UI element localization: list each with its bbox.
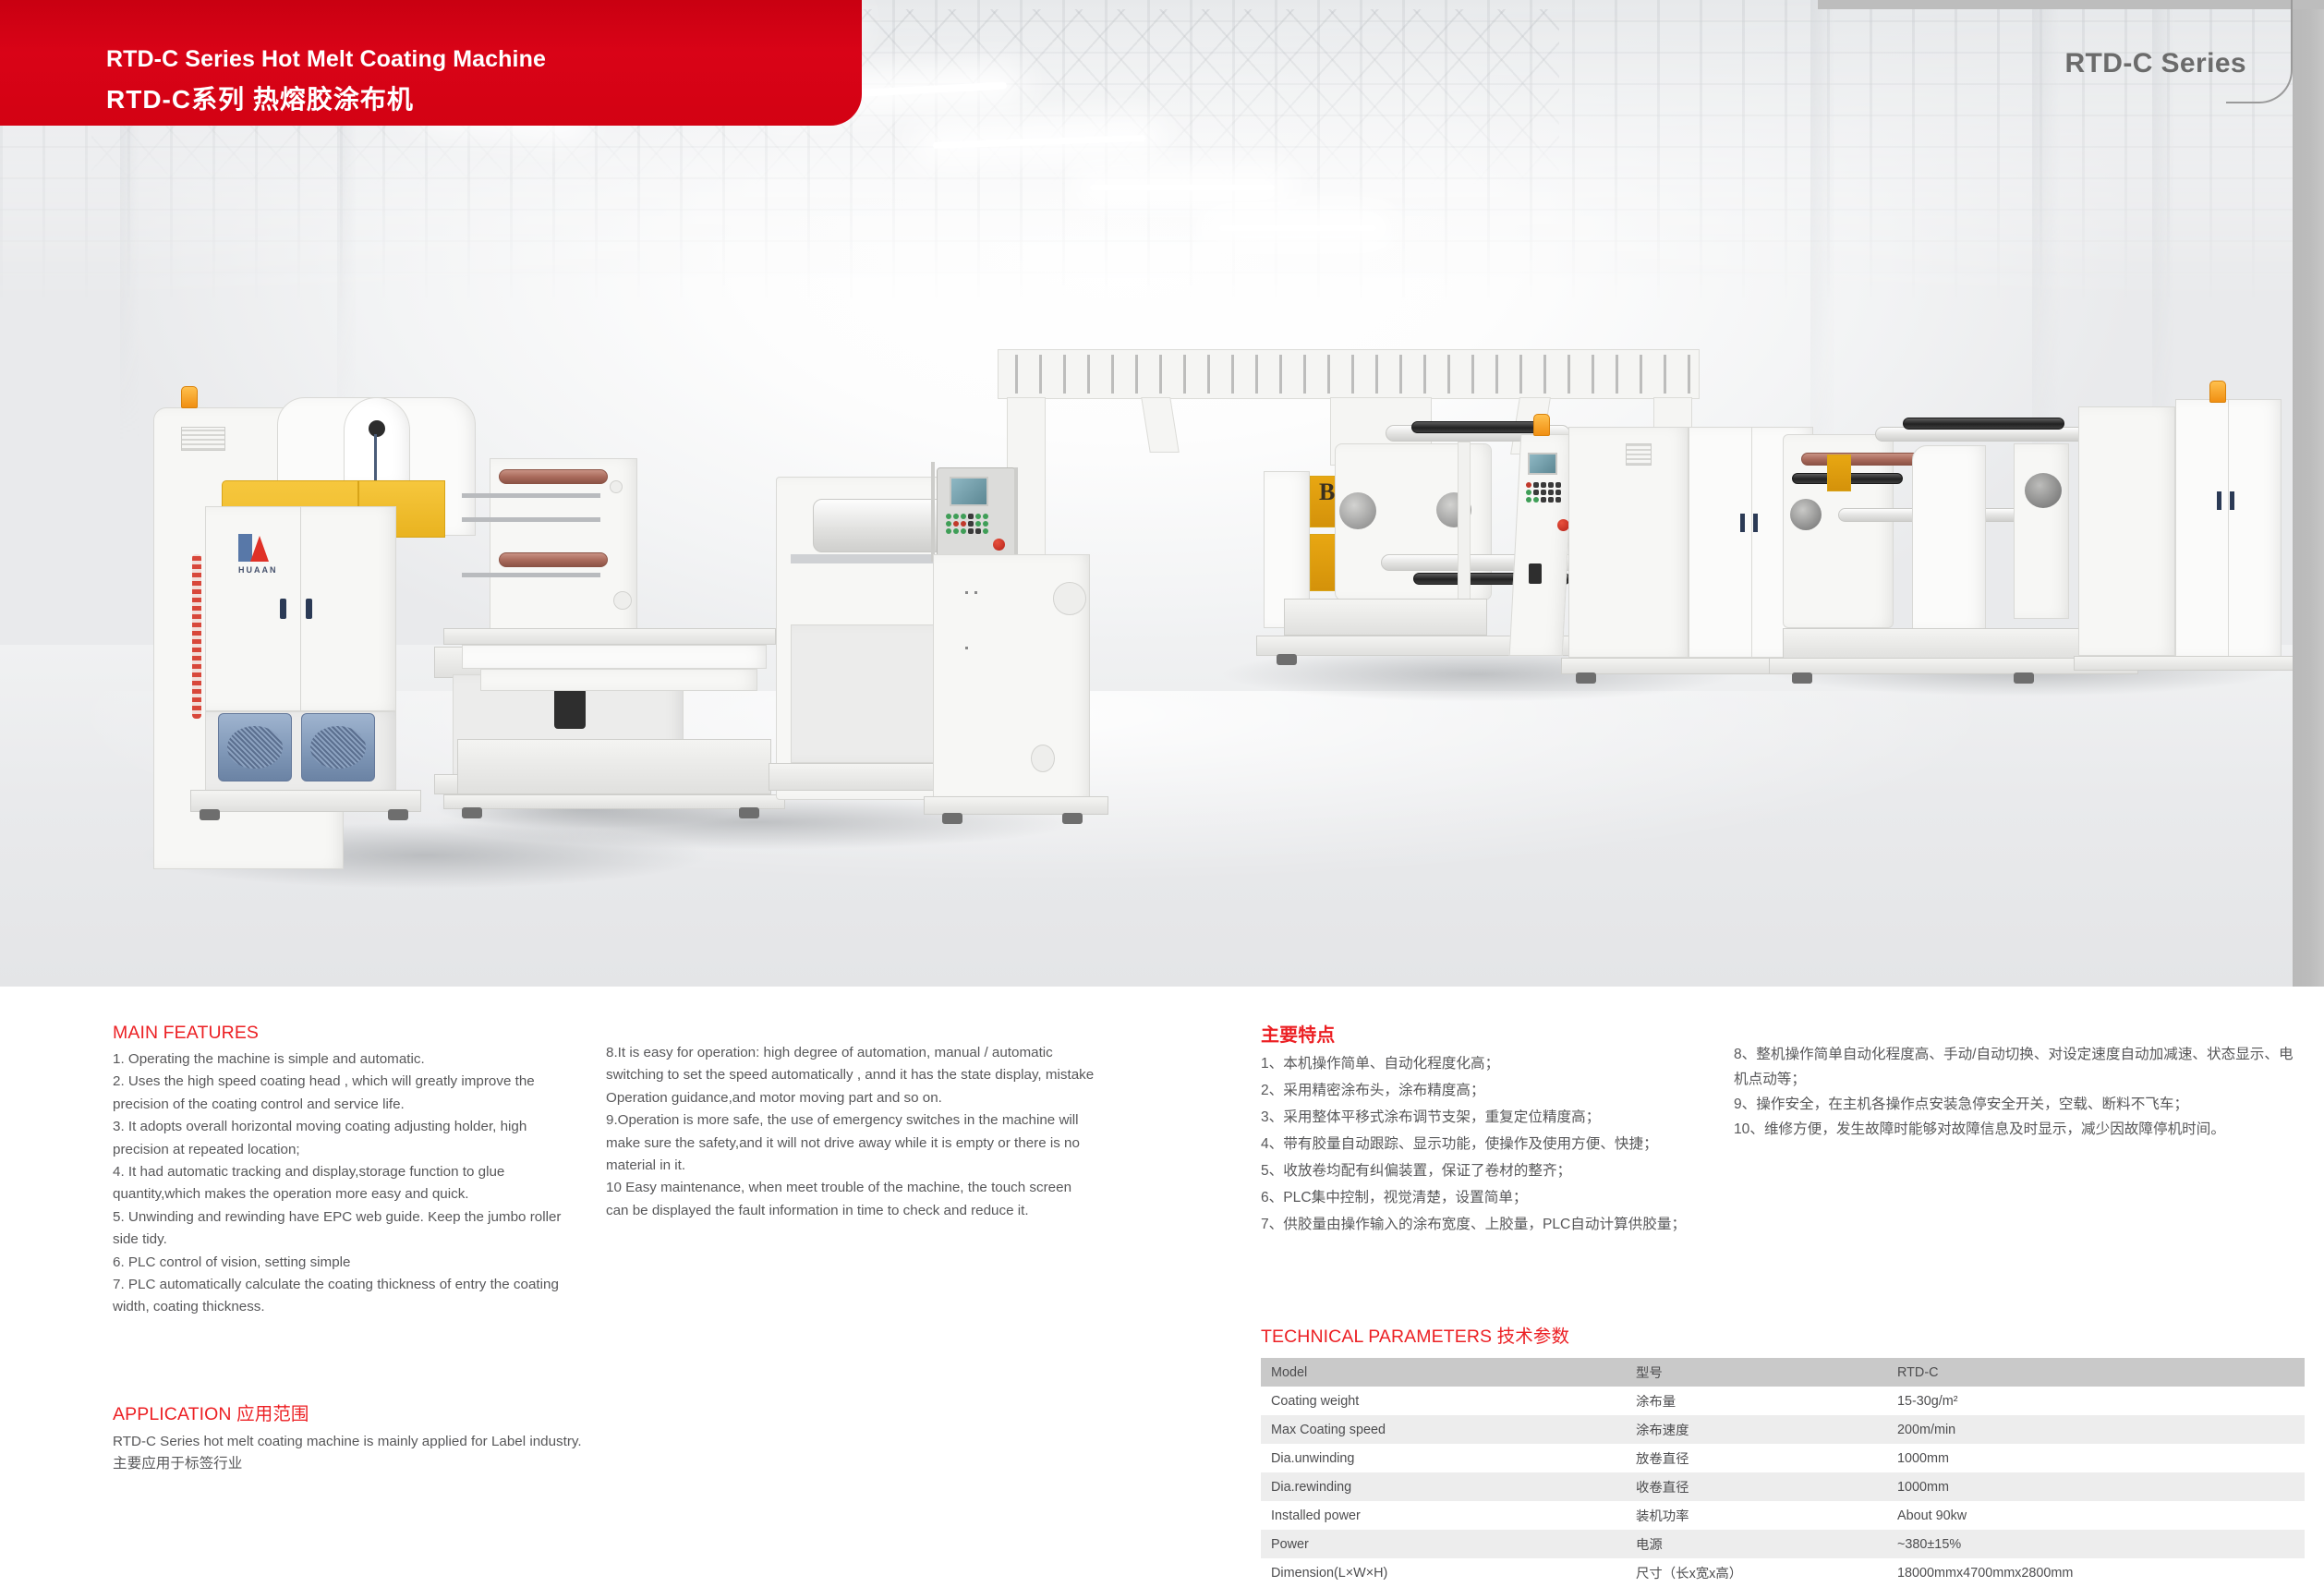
table-row: Installed power 装机功率 About 90kw (1261, 1501, 2305, 1530)
param-value: 1000mm (1887, 1444, 2305, 1472)
ceiling-light (1090, 185, 1275, 190)
application-text-cn: 主要应用于标签行业 (113, 1453, 593, 1475)
feature-item-cn: 5、收放卷均配有纠偏装置，保证了卷材的整齐； (1261, 1157, 1723, 1184)
feature-item: 8.It is easy for operation: high degree … (606, 1042, 1095, 1109)
column-header-model-cn: 型号 (1626, 1358, 1887, 1387)
feature-item: 5. Unwinding and rewinding have EPC web … (113, 1206, 575, 1252)
title-en: RTD-C Series Hot Melt Coating Machine (106, 46, 546, 73)
main-features-heading: MAIN FEATURES (113, 1023, 575, 1044)
param-name-cn: 涂布量 (1626, 1387, 1887, 1415)
table-row: Dia.rewinding 收卷直径 1000mm (1261, 1472, 2305, 1501)
main-features-list-b: 8.It is easy for operation: high degree … (606, 1042, 1095, 1222)
tower-touchscreen[interactable] (1528, 453, 1557, 475)
param-name-en: Dia.unwinding (1261, 1444, 1626, 1472)
feature-item: 9.Operation is more safe, the use of eme… (606, 1109, 1095, 1177)
main-features-cn-list-b: 8、整机操作简单自动化程度高、手动/自动切换、对设定速度自动加减速、状态显示、电… (1734, 1042, 2306, 1142)
technical-parameters-table: Model 型号 RTD-C Coating weight 涂布量 15-30g… (1261, 1358, 2305, 1587)
main-features-cn-heading: 主要特点 (1261, 1020, 1723, 1047)
param-name-cn: 放卷直径 (1626, 1444, 1887, 1472)
feature-item-cn: 2、采用精密涂布头，涂布精度高； (1261, 1077, 1723, 1104)
unwind-letter-label: B (1319, 479, 1335, 506)
title-cn: RTD-C系列 热熔胶涂布机 (106, 79, 414, 116)
main-features-list-a: 1. Operating the machine is simple and a… (113, 1048, 575, 1319)
table-row: Power 电源 ~380±15% (1261, 1530, 2305, 1558)
param-name-en: Max Coating speed (1261, 1415, 1626, 1444)
feature-item: 4. It had automatic tracking and display… (113, 1161, 575, 1206)
main-features-cn-block: 主要特点 1、本机操作简单、自动化程度化高； 2、采用精密涂布头，涂布精度高； … (1261, 1020, 1723, 1238)
feature-item-cn: 9、操作安全，在主机各操作点安装急停安全开关，空载、断料不飞车； (1734, 1092, 2306, 1117)
title-banner: RTD-C Series Hot Melt Coating Machine RT… (0, 0, 862, 126)
param-name-cn: 涂布速度 (1626, 1415, 1887, 1444)
param-value: 18000mmx4700mmx2800mm (1887, 1558, 2305, 1587)
param-value: 1000mm (1887, 1472, 2305, 1501)
main-features-block: MAIN FEATURES 1. Operating the machine i… (113, 1023, 575, 1319)
hmi-touchscreen[interactable] (950, 477, 988, 506)
param-name-cn: 电源 (1626, 1530, 1887, 1558)
content-area: MAIN FEATURES 1. Operating the machine i… (0, 987, 2324, 1587)
feature-item-cn: 4、带有胶量自动跟踪、显示功能，使操作及使用方便、快捷； (1261, 1131, 1723, 1157)
param-value: 200m/min (1887, 1415, 2305, 1444)
series-tag: RTD-C Series (2064, 48, 2246, 79)
feature-item: 2. Uses the high speed coating head , wh… (113, 1071, 575, 1116)
technical-parameters-block: TECHNICAL PARAMETERS 技术参数 Model 型号 RTD-C… (1261, 1321, 2305, 1587)
feature-item: 1. Operating the machine is simple and a… (113, 1048, 575, 1071)
param-value: 15-30g/m² (1887, 1387, 2305, 1415)
hmi-button-grid[interactable] (946, 514, 988, 534)
table-row: Dia.unwinding 放卷直径 1000mm (1261, 1444, 2305, 1472)
param-name-cn: 尺寸（长x宽x高） (1626, 1558, 1887, 1587)
param-value: ~380±15% (1887, 1530, 2305, 1558)
feature-item-cn: 7、供胶量由操作输入的涂布宽度、上胶量，PLC自动计算供胶量； (1261, 1211, 1723, 1238)
feature-item: 3. It adopts overall horizontal moving c… (113, 1116, 575, 1161)
column-header-value: RTD-C (1887, 1358, 2305, 1387)
table-header-row: Model 型号 RTD-C (1261, 1358, 2305, 1387)
feature-item: 6. PLC control of vision, setting simple (113, 1252, 575, 1274)
feature-item: 7. PLC automatically calculate the coati… (113, 1274, 575, 1319)
param-name-en: Dia.rewinding (1261, 1472, 1626, 1501)
feature-item-cn: 8、整机操作简单自动化程度高、手动/自动切换、对设定速度自动加减速、状态显示、电… (1734, 1042, 2306, 1092)
brochure-page: HUAAN (0, 0, 2324, 1587)
table-row: Coating weight 涂布量 15-30g/m² (1261, 1387, 2305, 1415)
column-header-model-en: Model (1261, 1358, 1626, 1387)
param-name-en: Coating weight (1261, 1387, 1626, 1415)
product-photo: HUAAN (0, 0, 2293, 987)
param-value: About 90kw (1887, 1501, 2305, 1530)
table-row: Dimension(L×W×H) 尺寸（长x宽x高） 18000mmx4700m… (1261, 1558, 2305, 1587)
header-corner-arc (2226, 0, 2293, 103)
brand-logo-label: HUAAN (238, 565, 278, 575)
main-features-cn-list-a: 1、本机操作简单、自动化程度化高； 2、采用精密涂布头，涂布精度高； 3、采用整… (1261, 1050, 1723, 1238)
application-heading: APPLICATION 应用范围 (113, 1399, 593, 1425)
table-row: Max Coating speed 涂布速度 200m/min (1261, 1415, 2305, 1444)
feature-item-cn: 1、本机操作简单、自动化程度化高； (1261, 1050, 1723, 1077)
param-name-cn: 收卷直径 (1626, 1472, 1887, 1501)
feature-item-cn: 10、维修方便，发生故障时能够对故障信息及时显示，减少因故障停机时间。 (1734, 1117, 2306, 1142)
param-name-en: Installed power (1261, 1501, 1626, 1530)
feature-item-cn: 3、采用整体平移式涂布调节支架，重复定位精度高； (1261, 1104, 1723, 1131)
application-text-en: RTD-C Series hot melt coating machine is… (113, 1431, 593, 1453)
tower-button-grid[interactable] (1526, 482, 1561, 503)
param-name-en: Dimension(L×W×H) (1261, 1558, 1626, 1587)
emergency-stop-button[interactable] (993, 539, 1005, 551)
param-name-en: Power (1261, 1530, 1626, 1558)
feature-item: 10 Easy maintenance, when meet trouble o… (606, 1177, 1095, 1222)
ceiling-light (1219, 225, 1376, 231)
param-name-cn: 装机功率 (1626, 1501, 1887, 1530)
technical-parameters-heading: TECHNICAL PARAMETERS 技术参数 (1261, 1321, 2305, 1348)
feature-item-cn: 6、PLC集中控制，视觉清楚，设置简单； (1261, 1184, 1723, 1211)
application-block: APPLICATION 应用范围 RTD-C Series hot melt c… (113, 1399, 593, 1475)
